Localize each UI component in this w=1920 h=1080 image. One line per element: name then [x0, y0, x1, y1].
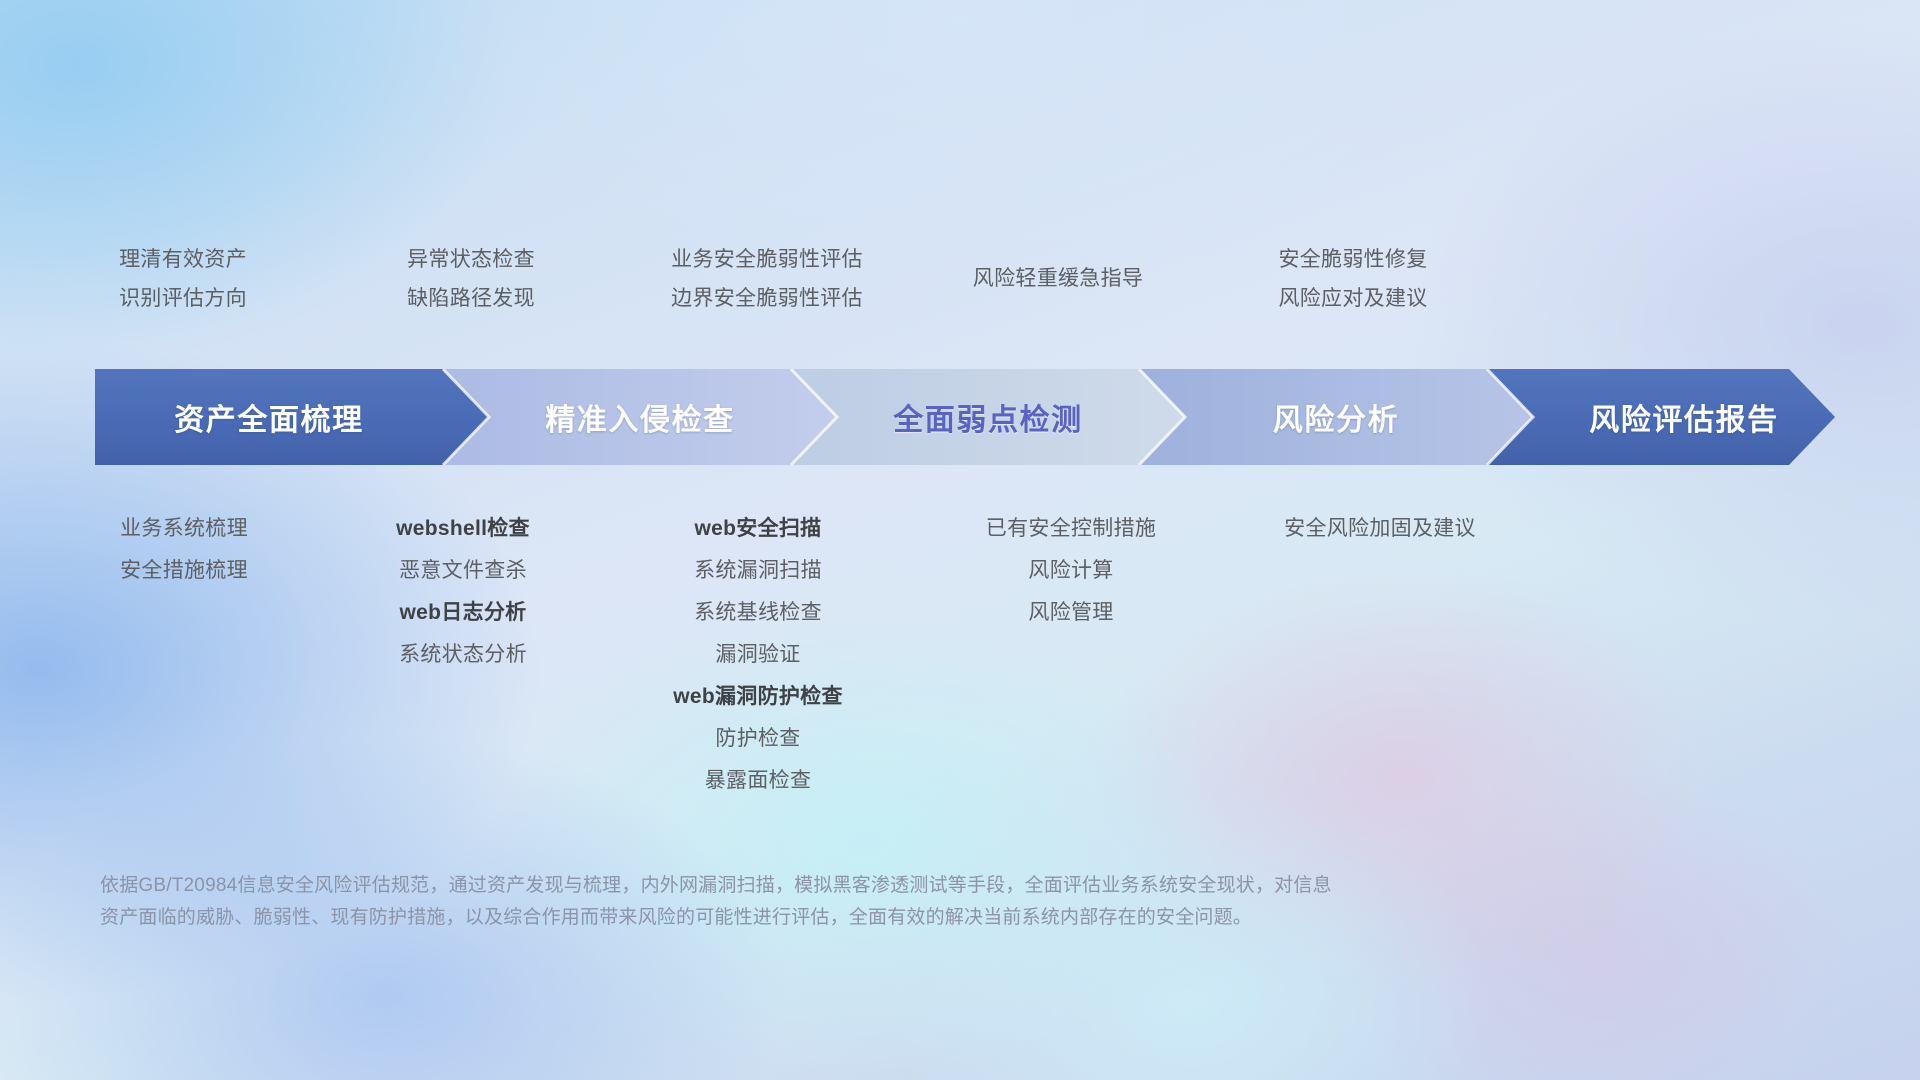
detail-column: 安全风险加固及建议 [1284, 518, 1476, 560]
detail-item: 恶意文件查杀 [396, 560, 530, 581]
process-stage-5-label[interactable]: 风险评估报告 [1533, 369, 1835, 465]
detail-item: webshell检查 [396, 518, 530, 539]
process-arrow-banner: 资产全面梳理精准入侵检查全面弱点检测风险分析风险评估报告 [95, 369, 1835, 465]
detail-item: 已有安全控制措施 [986, 518, 1156, 539]
process-stage-2-label[interactable]: 精准入侵检查 [489, 369, 791, 465]
detail-item: 风险管理 [986, 602, 1156, 623]
process-stage-1-label[interactable]: 资产全面梳理 [95, 369, 443, 465]
detail-item: 系统漏洞扫描 [673, 560, 843, 581]
bottom-detail-region: 业务系统梳理安全措施梳理webshell检查恶意文件查杀web日志分析系统状态分… [0, 465, 1920, 865]
detail-item: 安全措施梳理 [120, 560, 248, 581]
footer-description: 依据GB/T20984信息安全风险评估规范，通过资产发现与梳理，内外网漏洞扫描，… [100, 870, 1660, 934]
detail-column: 已有安全控制措施风险计算风险管理 [986, 518, 1156, 644]
detail-item: web安全扫描 [673, 518, 843, 539]
detail-item: 安全风险加固及建议 [1284, 518, 1476, 539]
detail-column: webshell检查恶意文件查杀web日志分析系统状态分析 [396, 518, 530, 686]
detail-column: web安全扫描系统漏洞扫描系统基线检查漏洞验证web漏洞防护检查防护检查暴露面检… [673, 518, 843, 812]
footer-line-1: 依据GB/T20984信息安全风险评估规范，通过资产发现与梳理，内外网漏洞扫描，… [100, 870, 1660, 902]
detail-item: 漏洞验证 [673, 644, 843, 665]
detail-item: 暴露面检查 [673, 770, 843, 791]
detail-item: 防护检查 [673, 728, 843, 749]
detail-column: 业务系统梳理安全措施梳理 [120, 518, 248, 602]
detail-item: 系统状态分析 [396, 644, 530, 665]
process-stage-3-label[interactable]: 全面弱点检测 [837, 369, 1139, 465]
process-stage-4-label[interactable]: 风险分析 [1185, 369, 1487, 465]
detail-item: 系统基线检查 [673, 602, 843, 623]
detail-item: 业务系统梳理 [120, 518, 248, 539]
detail-item: web漏洞防护检查 [673, 686, 843, 707]
footer-line-2: 资产面临的威胁、脆弱性、现有防护措施，以及综合作用而带来风险的可能性进行评估，全… [100, 902, 1660, 934]
detail-item: web日志分析 [396, 602, 530, 623]
detail-item: 风险计算 [986, 560, 1156, 581]
